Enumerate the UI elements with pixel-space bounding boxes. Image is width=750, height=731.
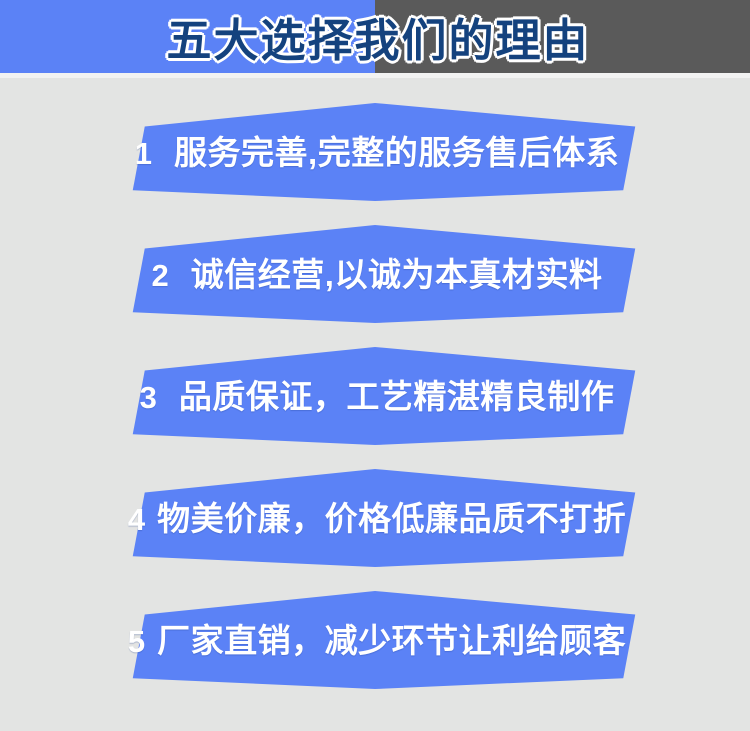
hexagon-banner-shape — [0, 347, 750, 445]
reason-item-4[interactable]: 4 物美价廉，价格低廉品质不打折 — [0, 469, 750, 567]
reason-item-3[interactable]: 3 品质保证，工艺精湛精良制作 — [0, 347, 750, 445]
reason-item-5[interactable]: 5 厂家直销，减少环节让利给顾客 — [0, 591, 750, 689]
hexagon-banner-shape — [0, 225, 750, 323]
reason-item-2[interactable]: 2 诚信经营,以诚为本真材实料 — [0, 225, 750, 323]
page-title: 五大选择我们的理由 — [0, 0, 750, 73]
hexagon-banner-shape — [0, 103, 750, 201]
hexagon-banner-shape — [0, 591, 750, 689]
reason-item-1[interactable]: 1 服务完善,完整的服务售后体系 — [0, 103, 750, 201]
reason-list: 1 服务完善,完整的服务售后体系 2 诚信经营,以诚为本真材实料 3 — [0, 78, 750, 731]
hexagon-banner-shape — [0, 469, 750, 567]
promo-page: 五大选择我们的理由 1 服务完善,完整的服务售后体系 2 诚信经营,以诚为本真材… — [0, 0, 750, 731]
